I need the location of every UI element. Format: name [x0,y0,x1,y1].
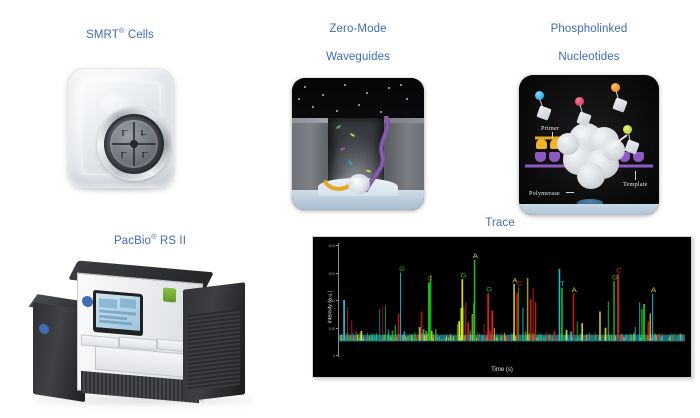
trace-noise-pulse [481,334,482,341]
smrt-cell-image [59,62,181,194]
zero-mode-waveguides-title: Zero-Mode Waveguides [248,8,468,64]
trace-noise-pulse [427,336,428,341]
trace-noise-pulse [414,333,415,341]
smrt-cell-hub [130,140,138,148]
zmw-particle [380,111,382,113]
smrt-cell-case [67,68,175,188]
phos-nucleotide-body [536,105,551,120]
trace-pulse [533,288,534,340]
trace-pulse [494,328,495,341]
trace-noise-pulse [621,335,622,341]
zmw-particle [298,98,300,100]
trace-noise-pulse [625,335,626,341]
phos-template-base [549,152,560,162]
trace-noise-pulse [609,335,610,341]
trace-pulse [463,307,464,340]
trace-noise-pulse [496,337,497,340]
trace-pulse [470,331,471,341]
trace-pulse [423,329,425,340]
phos-substrate-floor [519,204,659,215]
trace-noise-pulse [675,333,676,340]
pacbio-screen-ui-line [99,298,117,309]
trace-noise-pulse [556,338,557,341]
trace-y-tick-label: 400 [321,243,335,248]
trace-noise-pulse [374,333,375,341]
phospholinked-nucleotides-image: Primer Polymerase Template [519,75,659,215]
trace-y-axis-label: Intensity (a.u.) [327,291,333,324]
trace-noise-pulse [449,338,450,340]
trace-pulse [356,331,357,340]
trace-pulse [487,293,489,340]
trace-noise-pulse [448,337,449,340]
phos-polymerase-leader [566,192,574,193]
trace-noise-pulse [672,337,673,341]
trace-signal-svg: GCGAGACTAGCA [339,245,685,355]
trace-pulse [431,331,432,341]
trace-noise-pulse [656,335,657,341]
trace-noise-pulse [502,334,503,341]
trace-pulse [561,288,563,341]
trace-pulse [347,307,348,340]
trace-noise-pulse [623,338,624,341]
trace-noise-pulse [538,339,539,341]
trace-pulse [392,331,394,341]
trace-noise-pulse [408,338,409,341]
trace-noise-pulse [371,334,372,341]
trace-pulse [643,304,645,341]
trace-noise-pulse [579,337,580,341]
trace-pulse [647,322,649,341]
trace-noise-pulse [654,336,655,341]
trace-noise-pulse [658,333,659,340]
trace-pulse [379,309,380,341]
trace-noise-pulse [485,339,486,341]
trace-noise-pulse [401,338,402,340]
trace-noise-pulse [634,333,635,341]
trace-noise-pulse [563,337,564,340]
smrt-cell-highlight [99,95,129,113]
trace-noise-pulse [662,337,663,340]
trace-noise-pulse [417,335,418,341]
trace-noise-pulse [668,334,669,340]
trace-noise-pulse [540,337,541,341]
trace-pulse [458,321,460,340]
phospholinked-nucleotides-panel: Phospholinked Nucleotides [478,8,700,215]
phos-polymerase-lobe [557,133,579,155]
zmw-particle [388,87,390,89]
trace-noise-pulse [357,335,358,341]
trace-noise-pulse [369,336,370,340]
trace-pulse [361,331,363,341]
zmw-polymerase [348,174,370,194]
trace-noise-pulse [645,333,646,340]
trace-noise-pulse [516,337,517,340]
trace-panel: Trace Intensity (a.u.) Time (s) 40030020… [300,216,700,378]
trace-pulse [581,323,583,340]
trace-noise-pulse [433,334,434,341]
smrt-cell-tick-6 [121,152,123,158]
trace-noise-pulse [403,335,404,341]
trace-noise-pulse [595,335,596,340]
trace-noise-pulse [591,339,592,341]
trace-chart: Intensity (a.u.) Time (s) 4003002001000 … [312,236,692,378]
zmw-particle [344,84,346,86]
trace-pulse [516,293,518,341]
trace-noise-pulse [536,337,537,340]
trace-pulse [382,305,383,340]
trace-noise-pulse [452,338,453,340]
trace-pulse [484,324,485,341]
trace-noise-pulse [549,334,550,341]
trace-noise-pulse [384,334,385,340]
trace-noise-pulse [497,337,498,340]
trace-noise-pulse [679,334,680,341]
trace-basecall-label: C [517,281,522,287]
trace-noise-pulse [627,335,628,341]
trace-basecall-label: T [560,281,565,287]
trace-noise-pulse [346,333,347,341]
trace-noise-pulse [383,334,384,340]
trace-noise-pulse [406,337,407,341]
trace-noise-pulse [586,334,587,340]
phos-nucleotide-body [612,97,627,112]
trace-basecall-label: C [616,268,621,274]
trace-noise-pulse [552,336,553,341]
trace-noise-pulse [424,336,425,341]
trace-noise-pulse [439,337,440,341]
trace-pulse [388,330,389,341]
trace-noise-pulse [507,335,508,340]
trace-pulse [635,327,636,341]
trace-noise-pulse [451,336,452,341]
trace-noise-pulse [624,337,625,340]
trace-noise-pulse [378,339,379,340]
trace-pulse [474,260,475,341]
trace-noise-pulse [409,334,410,340]
zmw-particle [358,104,360,106]
pacbio-screen-ui-line [120,298,136,308]
pacbio-rs2-title: PacBio® RS II [0,216,300,248]
phos-title-line2: Nucleotides [558,51,619,63]
trace-noise-pulse [365,338,366,341]
trace-pulse [566,330,568,341]
trace-pulse [559,269,561,341]
trace-noise-pulse [586,335,587,341]
trace-noise-pulse [541,335,542,341]
trace-noise-pulse [651,339,652,341]
trace-noise-pulse [363,337,364,341]
trace-y-tick-label: 200 [321,298,335,303]
zmw-title-line1: Zero-Mode [329,23,386,35]
zmw-title-line2: Waveguides [326,51,390,63]
trace-noise-pulse [669,338,670,340]
trace-noise-pulse [367,333,368,341]
trace-pulse [467,322,469,340]
trace-noise-pulse [631,334,632,340]
trace-noise-pulse [464,335,465,340]
trace-pulse [430,275,432,340]
trace-noise-pulse [568,338,569,340]
trace-pulse [639,302,640,340]
trace-noise-pulse [681,334,682,341]
trace-noise-pulse [532,333,533,341]
trace-noise-pulse [678,334,679,340]
trace-noise-pulse [550,335,551,341]
smrt-cell-outer-ring [97,107,171,181]
trace-noise-pulse [402,335,403,341]
trace-pulse [343,300,345,341]
smrt-cells-title: SMRT® Cells [0,10,240,42]
trace-noise-pulse [479,334,480,340]
phos-incorporation-arrow-icon [611,133,629,147]
trace-pulse [608,301,609,340]
trace-noise-pulse [655,335,656,340]
trace-noise-pulse [576,339,577,340]
trace-noise-pulse [511,333,512,340]
trace-noise-pulse [565,335,566,340]
trace-noise-pulse [446,337,447,340]
trace-pulse [518,287,519,340]
trace-noise-pulse [444,336,445,341]
trace-pulse [385,305,386,340]
trace-pulse [395,325,396,340]
trace-noise-pulse [659,335,660,341]
trace-noise-pulse [673,334,674,341]
trace-noise-pulse [479,334,480,341]
trace-pulse [527,278,529,341]
trace-pulse [513,284,514,341]
trace-pulse [553,331,555,340]
trace-noise-pulse [511,338,512,341]
smrt-cell-tick-4 [141,134,147,136]
trace-noise-pulse [574,338,575,341]
trace-noise-pulse [537,335,538,341]
trace-pulse [425,331,426,340]
trace-noise-pulse [529,334,530,340]
trace-pulse [613,281,615,340]
trace-noise-pulse [674,336,675,340]
trace-pulse [461,279,463,340]
trace-noise-pulse [632,334,633,340]
trace-pulse [491,311,493,341]
trace-pulse [535,302,536,340]
trace-noise-pulse [633,333,634,340]
trace-noise-pulse [588,333,589,341]
zmw-particle [336,110,338,112]
trace-noise-pulse [620,336,621,340]
zmw-particle [400,84,402,86]
trace-pulse [577,321,578,340]
trace-noise-pulse [501,336,502,341]
trace-noise-pulse [676,339,677,341]
trace-noise-pulse [391,338,392,341]
trace-noise-pulse [441,339,442,341]
trace-pulse [617,274,619,340]
trace-pulse [641,309,643,340]
trace-basecall-label: G [486,287,492,293]
trace-noise-pulse [417,339,418,341]
trace-noise-pulse [548,338,549,341]
trace-pulse [522,308,523,341]
zmw-particle [406,98,408,100]
trace-noise-pulse [387,333,388,340]
zero-mode-waveguides-panel: Zero-Mode Waveguides [248,8,468,210]
trace-basecall-label: A [473,254,478,260]
trace-noise-pulse [660,339,661,340]
trace-pulse [570,331,571,340]
trace-pulse [489,331,491,341]
zmw-particle [304,86,306,88]
trace-basecall-label: A [651,287,656,293]
trace-basecall-label: A [572,287,577,293]
phospholinked-nucleotides-title: Phospholinked Nucleotides [478,8,700,64]
trace-noise-pulse [512,335,513,341]
trace-noise-pulse [601,335,602,340]
trace-noise-pulse [415,333,416,340]
trace-noise-pulse [445,339,446,341]
trace-title: Trace [300,216,700,230]
trace-noise-pulse [451,333,452,341]
trace-noise-pulse [546,333,547,341]
trace-pulse [428,282,430,340]
trace-basecall-label: G [460,273,466,279]
trace-pulse [525,331,526,340]
trace-pulse [351,320,352,340]
trace-noise-pulse [628,339,629,341]
trace-noise-pulse [538,336,539,341]
trace-noise-pulse [483,339,484,341]
trace-noise-pulse [595,334,596,341]
trace-noise-pulse [414,338,415,341]
trace-pulse [530,299,532,340]
trace-noise-pulse [390,336,391,341]
phos-template-label: Template [623,181,648,188]
pacbio-rs2-panel: PacBio® RS II [0,216,300,406]
trace-noise-pulse [366,338,367,341]
pacbio-status-badge [163,287,176,302]
trace-y-tick-mark [336,355,339,356]
trace-pulse [435,329,436,341]
trace-noise-pulse [476,338,477,340]
trace-noise-pulse [622,335,623,341]
trace-noise-pulse [520,335,521,340]
trace-pulse [472,314,473,341]
smrt-cell-case-inner [81,81,161,175]
smrt-cell-tick-8 [142,152,144,158]
trace-pulse [398,314,399,341]
trace-noise-pulse [504,333,505,341]
trace-noise-pulse [487,337,488,340]
trace-pulse [404,331,406,340]
trace-pulse [605,328,607,341]
trace-noise-pulse [680,334,681,341]
trace-pulse [457,324,458,341]
smrt-cell-tick-2 [122,130,124,136]
zmw-particle [366,92,368,94]
pacbio-title-rest: RS II [157,235,186,247]
trace-noise-pulse [399,333,400,340]
trace-noise-pulse [376,333,377,341]
trace-noise-pulse [433,339,434,341]
trace-noise-pulse [556,334,557,341]
zmw-particle [312,106,314,108]
trace-pulse [573,294,575,341]
phos-primer-label: Primer [541,125,559,132]
trace-noise-pulse [632,334,633,340]
trace-noise-pulse [406,338,407,341]
trace-noise-pulse [509,336,510,341]
trace-pulse [465,302,466,340]
trace-noise-pulse [500,335,501,341]
trace-noise-pulse [437,334,438,341]
trace-noise-pulse [508,335,509,341]
phos-template-base [535,152,546,162]
trace-noise-pulse [341,335,342,340]
trace-y-tick-label: 0 [321,353,335,358]
phos-template-leader [635,171,636,180]
pacbio-right-tower-vents [188,309,240,391]
trace-noise-pulse [661,338,662,341]
trace-noise-pulse [342,334,343,341]
trace-noise-pulse [612,338,613,340]
trace-noise-pulse [544,338,545,340]
trace-y-tick-label: 300 [321,271,335,276]
smrt-cell-chip-disc [110,120,158,168]
trace-noise-pulse [584,334,585,340]
trace-noise-pulse [397,336,398,341]
trace-basecall-label: G [612,275,618,281]
pacbio-body-logo [82,295,93,307]
trace-pulse [477,331,478,340]
trace-noise-pulse [372,339,373,340]
trace-noise-pulse [353,333,354,341]
trace-basecall-label: C [427,276,432,282]
trace-pulse [421,311,423,340]
trace-noise-pulse [410,336,411,340]
trace-noise-pulse [349,339,350,341]
smrt-cell-inner-ring [104,114,164,174]
trace-noise-pulse [506,337,507,340]
trace-noise-pulse [453,336,454,340]
trace-noise-pulse [412,335,413,341]
trace-noise-pulse [442,338,443,340]
trace-noise-pulse [393,338,394,340]
smrt-cells-title-rest: Cells [125,29,154,41]
trace-pulse [650,313,651,340]
trace-plot-area: GCGAGACTAGCA [339,245,685,355]
trace-noise-pulse [683,334,684,340]
trace-y-tick-label: 100 [321,326,335,331]
trace-noise-pulse [354,339,355,340]
trace-noise-pulse [350,336,351,341]
trace-noise-pulse [589,334,590,341]
phos-title-line1: Phospholinked [551,23,628,35]
trace-pulse [652,294,653,341]
phos-polymerase-label: Polymerase [529,190,560,197]
smrt-cells-panel: SMRT® Cells [0,10,240,194]
trace-pulse [599,311,600,340]
trace-noise-pulse [505,336,506,341]
trace-noise-pulse [364,335,365,340]
smrt-cells-title-main: SMRT [86,29,119,41]
trace-pulse [400,273,401,341]
trace-noise-pulse [630,334,631,341]
phos-polymerase-lobe [577,163,605,189]
trace-basecall-label: G [399,266,405,272]
trace-noise-pulse [373,334,374,340]
trace-noise-pulse [543,336,544,340]
zmw-particle [322,94,324,96]
